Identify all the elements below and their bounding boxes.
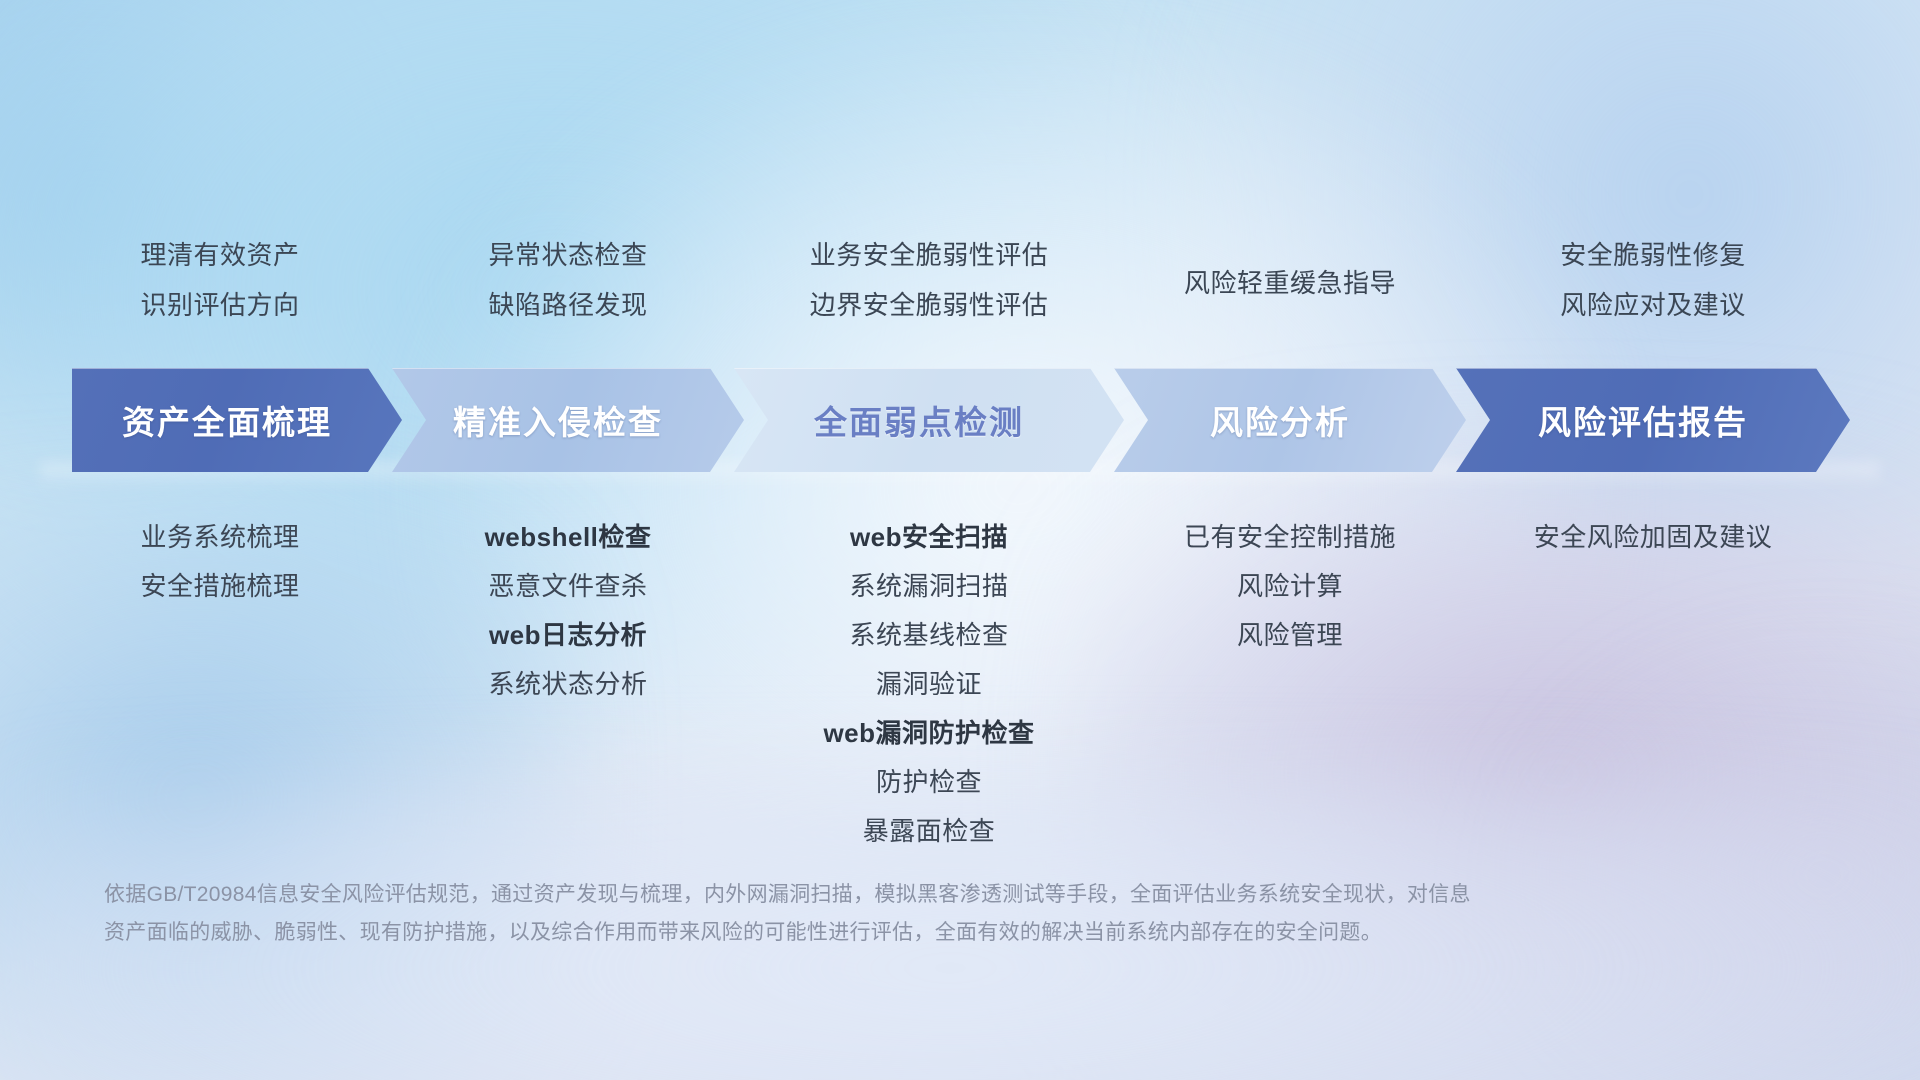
bottom-item: web漏洞防护检查 [823, 709, 1034, 758]
top-item: 风险轻重缓急指导 [1184, 258, 1396, 308]
bottom-item: 恶意文件查杀 [488, 562, 647, 611]
bottom-item: 系统漏洞扫描 [849, 562, 1008, 611]
top-items-risk-analysis: 风险轻重缓急指导 [1090, 230, 1490, 308]
bottom-item: web安全扫描 [850, 513, 1008, 562]
chevron-stage-assessment-report[interactable]: 风险评估报告 [1456, 368, 1850, 472]
bottom-item: 漏洞验证 [876, 660, 982, 709]
top-items-asset-inventory: 理清有效资产识别评估方向 [20, 230, 420, 330]
footer-line-2: 资产面临的威胁、脆弱性、现有防护措施，以及综合作用而带来风险的可能性进行评估，全… [104, 914, 1624, 952]
chevron-band: 资产全面梳理精准入侵检查全面弱点检测风险分析风险评估报告 [72, 368, 1850, 472]
chevron-stage-risk-analysis[interactable]: 风险分析 [1114, 368, 1466, 472]
chevron-label-assessment-report: 风险评估报告 [1456, 396, 1850, 444]
top-item: 异常状态检查 [488, 230, 647, 280]
bottom-item: 安全措施梳理 [140, 562, 299, 611]
process-diagram: 理清有效资产识别评估方向异常状态检查缺陷路径发现业务安全脆弱性评估边界安全脆弱性… [0, 0, 1920, 1080]
bottom-item: 业务系统梳理 [140, 513, 299, 562]
chevron-stage-intrusion-check[interactable]: 精准入侵检查 [392, 368, 744, 472]
bottom-item: 系统状态分析 [488, 660, 647, 709]
top-item: 缺陷路径发现 [488, 280, 647, 330]
top-item: 业务安全脆弱性评估 [810, 230, 1049, 280]
bottom-item: 风险管理 [1237, 611, 1343, 660]
chevron-stage-asset-inventory[interactable]: 资产全面梳理 [72, 368, 402, 472]
bottom-item: 风险计算 [1237, 562, 1343, 611]
top-item: 理清有效资产 [140, 230, 299, 280]
bottom-items-assessment-report: 安全风险加固及建议 [1433, 513, 1873, 562]
footer-line-1: 依据GB/T20984信息安全风险评估规范，通过资产发现与梳理，内外网漏洞扫描，… [104, 876, 1624, 914]
chevron-label-asset-inventory: 资产全面梳理 [72, 396, 402, 444]
footer-description: 依据GB/T20984信息安全风险评估规范，通过资产发现与梳理，内外网漏洞扫描，… [104, 876, 1624, 952]
top-items-intrusion-check: 异常状态检查缺陷路径发现 [368, 230, 768, 330]
top-item: 边界安全脆弱性评估 [810, 280, 1049, 330]
bottom-item: 已有安全控制措施 [1184, 513, 1396, 562]
bottom-item: 暴露面检查 [863, 807, 996, 856]
bottom-item: 系统基线检查 [849, 611, 1008, 660]
top-item: 风险应对及建议 [1560, 280, 1746, 330]
top-items-assessment-report: 安全脆弱性修复风险应对及建议 [1453, 230, 1853, 330]
chevron-stage-weakness-detection[interactable]: 全面弱点检测 [734, 368, 1124, 472]
bottom-item: webshell检查 [485, 513, 652, 562]
chevron-label-weakness-detection: 全面弱点检测 [734, 396, 1124, 444]
top-items-weakness-detection: 业务安全脆弱性评估边界安全脆弱性评估 [729, 230, 1129, 330]
chevron-label-risk-analysis: 风险分析 [1114, 396, 1466, 444]
bottom-item: web日志分析 [489, 611, 647, 660]
bottom-item: 安全风险加固及建议 [1534, 513, 1773, 562]
top-item: 识别评估方向 [140, 280, 299, 330]
chevron-label-intrusion-check: 精准入侵检查 [392, 396, 744, 444]
top-item: 安全脆弱性修复 [1560, 230, 1746, 280]
bottom-item: 防护检查 [876, 758, 982, 807]
